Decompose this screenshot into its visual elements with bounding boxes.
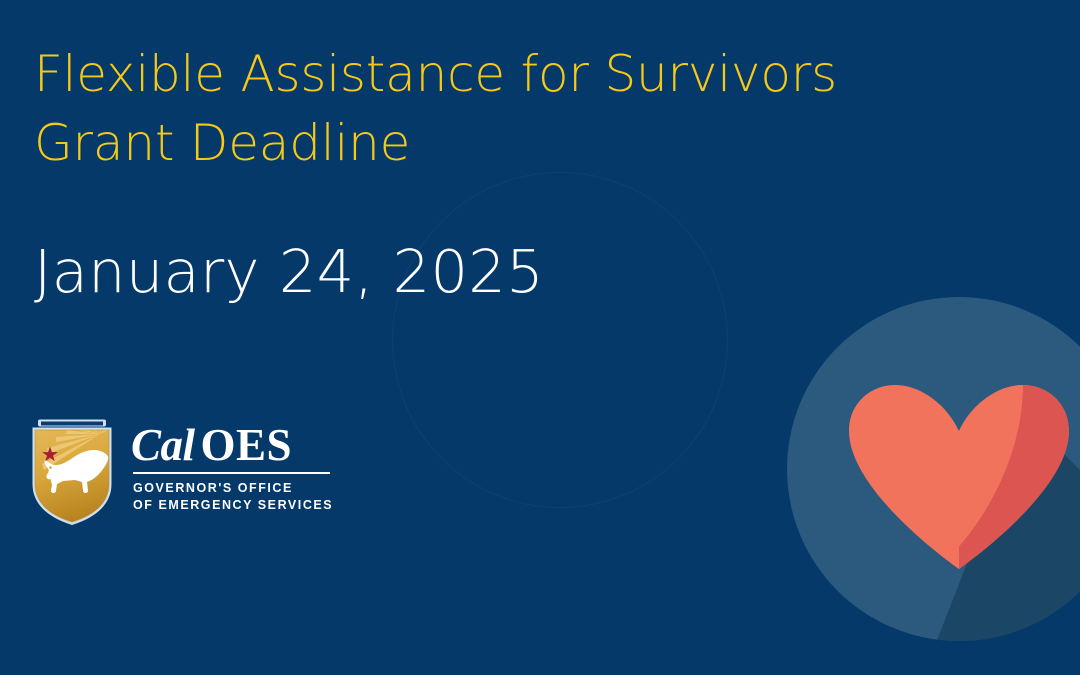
background-circle-decoration (392, 172, 728, 508)
page-title-line-1: Flexible Assistance for Survivors (34, 40, 984, 109)
wordmark-text: CalOES (131, 423, 333, 467)
wordmark-tagline-line-2: OF EMERGENCY SERVICES (133, 497, 333, 515)
wordmark-oes: OES (201, 420, 293, 470)
page-title: Flexible Assistance for Survivors Grant … (34, 40, 984, 177)
heart-circle-icon (787, 297, 1080, 641)
wordmark-cal: Cal (131, 420, 195, 470)
california-bear-shield-icon (30, 418, 114, 526)
cal-oes-wordmark: CalOES GOVERNOR'S OFFICE OF EMERGENCY SE… (131, 418, 333, 515)
wordmark-divider (133, 472, 330, 474)
deadline-date: January 24, 2025 (34, 240, 544, 305)
wordmark-tagline-line-1: GOVERNOR'S OFFICE (133, 480, 333, 498)
cal-oes-logo: CalOES GOVERNOR'S OFFICE OF EMERGENCY SE… (30, 418, 333, 526)
announcement-graphic: Flexible Assistance for Survivors Grant … (0, 0, 1080, 675)
page-title-line-2: Grant Deadline (34, 109, 984, 178)
wordmark-tagline: GOVERNOR'S OFFICE OF EMERGENCY SERVICES (133, 480, 333, 516)
